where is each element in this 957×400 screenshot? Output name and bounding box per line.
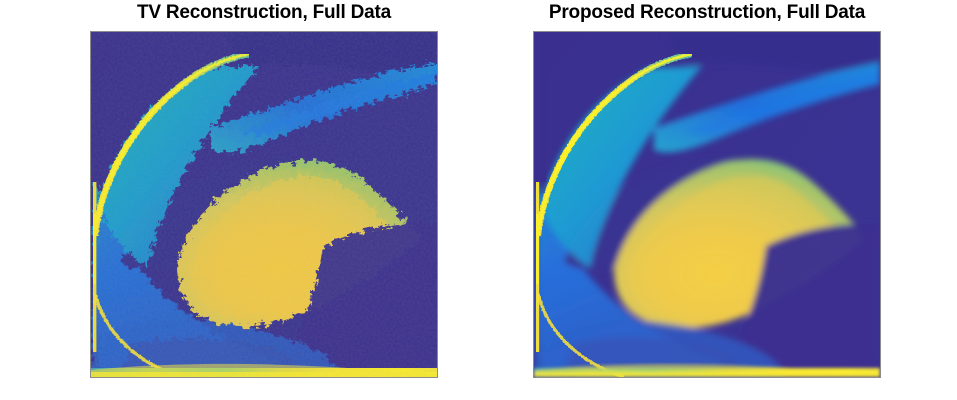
heatmap-tv xyxy=(91,32,437,377)
panel-title-tv: TV Reconstruction, Full Data xyxy=(90,2,438,24)
axes-image-tv[interactable] xyxy=(90,31,438,378)
panel-title-proposed: Proposed Reconstruction, Full Data xyxy=(533,2,881,24)
axes-image-proposed[interactable] xyxy=(533,31,881,378)
heatmap-proposed xyxy=(534,32,880,377)
figure-canvas: TV Reconstruction, Full Data xyxy=(0,0,957,400)
